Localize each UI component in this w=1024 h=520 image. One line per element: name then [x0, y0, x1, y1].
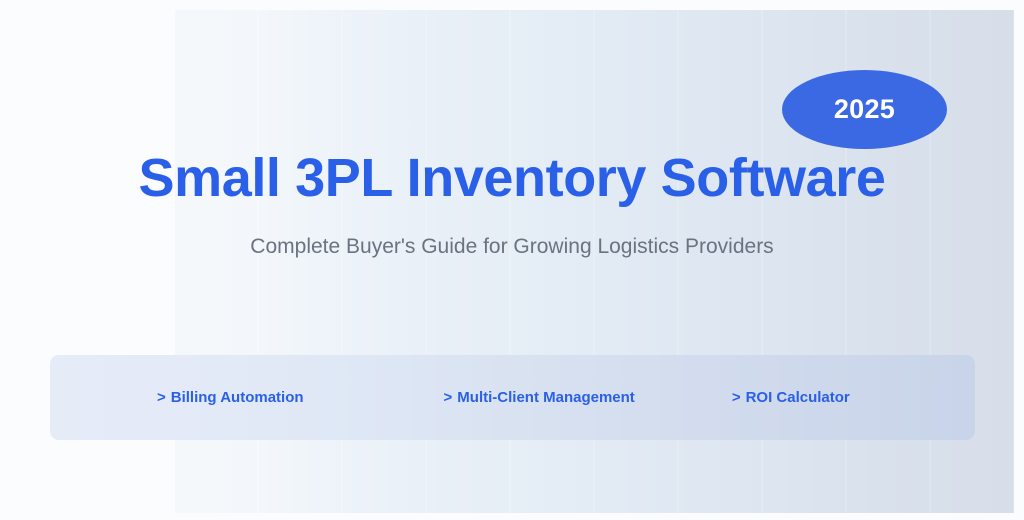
quicklink-label: Multi-Client Management — [457, 389, 635, 406]
quicklinks-bar: >Billing Automation >Multi-Client Manage… — [50, 355, 975, 440]
quicklink-multi-client-management[interactable]: >Multi-Client Management — [444, 390, 635, 405]
hero-banner: 2025 Small 3PL Inventory Software Comple… — [0, 0, 1024, 520]
year-badge-label: 2025 — [834, 96, 895, 123]
quicklink-roi-calculator[interactable]: >ROI Calculator — [732, 390, 850, 405]
quicklink-label: Billing Automation — [171, 389, 304, 406]
quicklink-billing-automation[interactable]: >Billing Automation — [157, 390, 304, 405]
page-title: Small 3PL Inventory Software — [0, 148, 1024, 208]
page-subtitle: Complete Buyer's Guide for Growing Logis… — [0, 234, 1024, 259]
year-badge: 2025 — [782, 70, 947, 149]
chevron-right-icon: > — [157, 389, 166, 406]
chevron-right-icon: > — [732, 389, 741, 406]
chevron-right-icon: > — [444, 389, 453, 406]
headline-block: Small 3PL Inventory Software Complete Bu… — [0, 148, 1024, 260]
quicklink-label: ROI Calculator — [746, 389, 850, 406]
